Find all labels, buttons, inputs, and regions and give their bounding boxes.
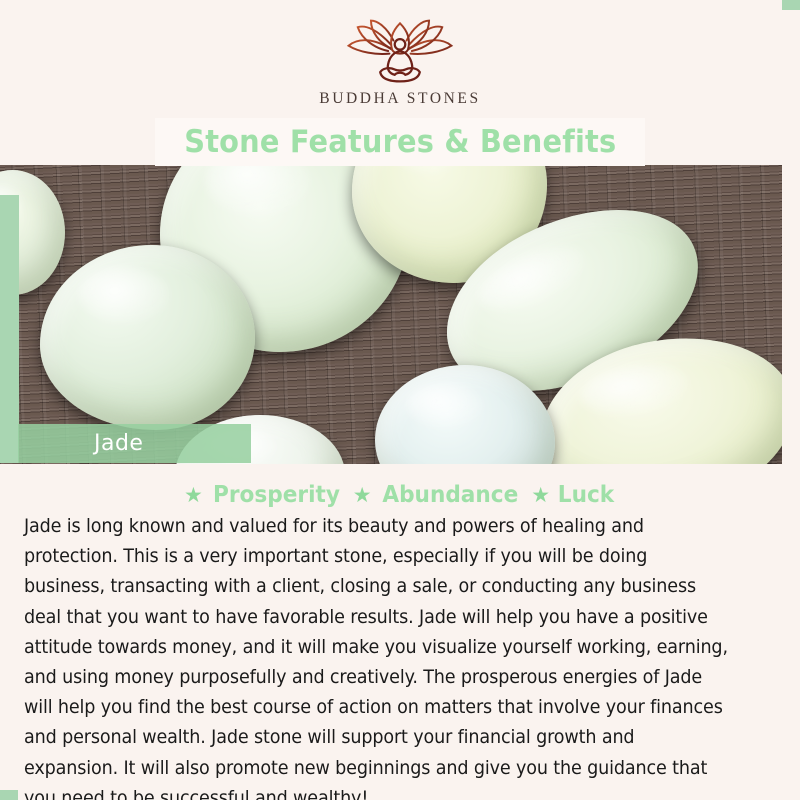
lotus-meditation-icon: [334, 18, 466, 84]
description-text: Jade is long known and valued for its be…: [24, 512, 733, 800]
benefit-label: Abundance: [382, 482, 518, 508]
brand-header: BUDDHA STONES: [0, 0, 800, 118]
title-banner: Stone Features & Benefits: [155, 118, 645, 166]
infographic-canvas: BUDDHA STONES Stone Features & Benefits …: [0, 0, 800, 800]
stone-name-banner: Jade: [18, 424, 251, 463]
benefits-row: ★ Prosperity ★ Abundance ★ Luck: [0, 478, 800, 512]
benefit-label: Prosperity: [213, 482, 340, 508]
benefit-item-abundance: ★ Abundance: [353, 482, 522, 508]
benefit-item-luck: ★ Luck: [531, 482, 616, 508]
benefit-label: Luck: [558, 482, 614, 508]
star-icon: ★: [531, 485, 550, 506]
stone-name-label: Jade: [94, 431, 143, 456]
photo-left-green-edge: [0, 195, 19, 463]
star-icon: ★: [184, 485, 203, 506]
page-title: Stone Features & Benefits: [184, 124, 616, 160]
star-icon: ★: [353, 485, 372, 506]
benefit-item-prosperity: ★ Prosperity: [184, 482, 344, 508]
description-panel: Jade is long known and valued for its be…: [18, 512, 782, 800]
stone-photo: [0, 165, 782, 464]
brand-name: BUDDHA STONES: [319, 90, 480, 108]
